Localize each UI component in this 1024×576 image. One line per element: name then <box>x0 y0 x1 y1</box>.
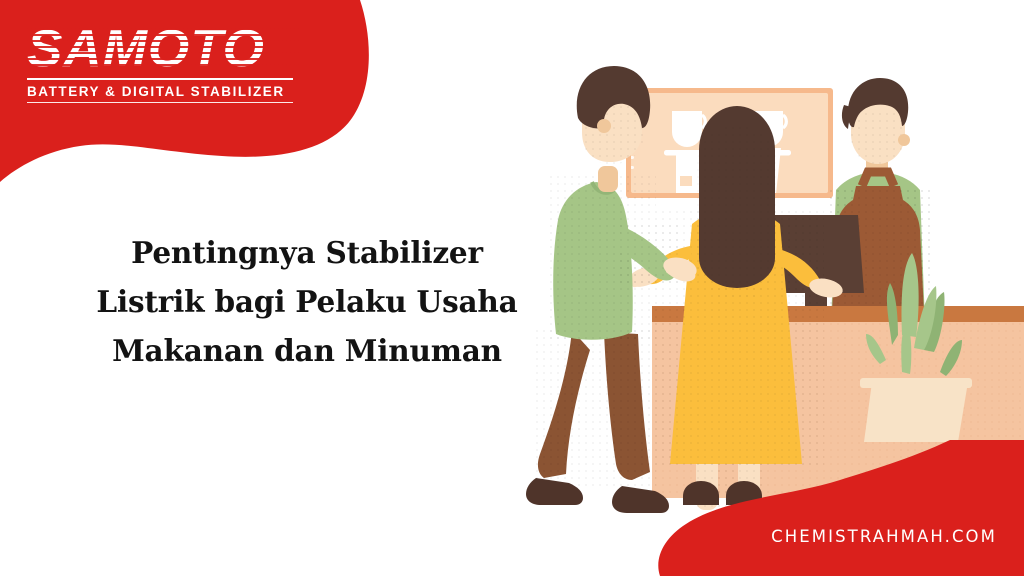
cafe-illustration <box>500 0 1024 576</box>
site-url: CHEMISTRAHMAH.COM <box>771 527 997 546</box>
brand-logo: SAMOTO BATTERY & DIGITAL STABILIZER <box>27 22 297 106</box>
headline-line-1: Pentingnya Stabilizer <box>52 228 562 277</box>
logo-wordmark: SAMOTO <box>27 22 302 76</box>
logo-tagline: BATTERY & DIGITAL STABILIZER <box>27 83 297 100</box>
logo-divider-bottom <box>27 102 293 103</box>
poster-canvas: SAMOTO BATTERY & DIGITAL STABILIZER Pent… <box>0 0 1024 576</box>
headline-line-2: Listrik bagi Pelaku Usaha <box>52 277 562 326</box>
headline: Pentingnya Stabilizer Listrik bagi Pelak… <box>52 228 562 375</box>
logo-divider-top <box>27 78 293 80</box>
headline-line-3: Makanan dan Minuman <box>52 326 562 375</box>
logo-wordmark-text: SAMOTO <box>27 20 265 78</box>
